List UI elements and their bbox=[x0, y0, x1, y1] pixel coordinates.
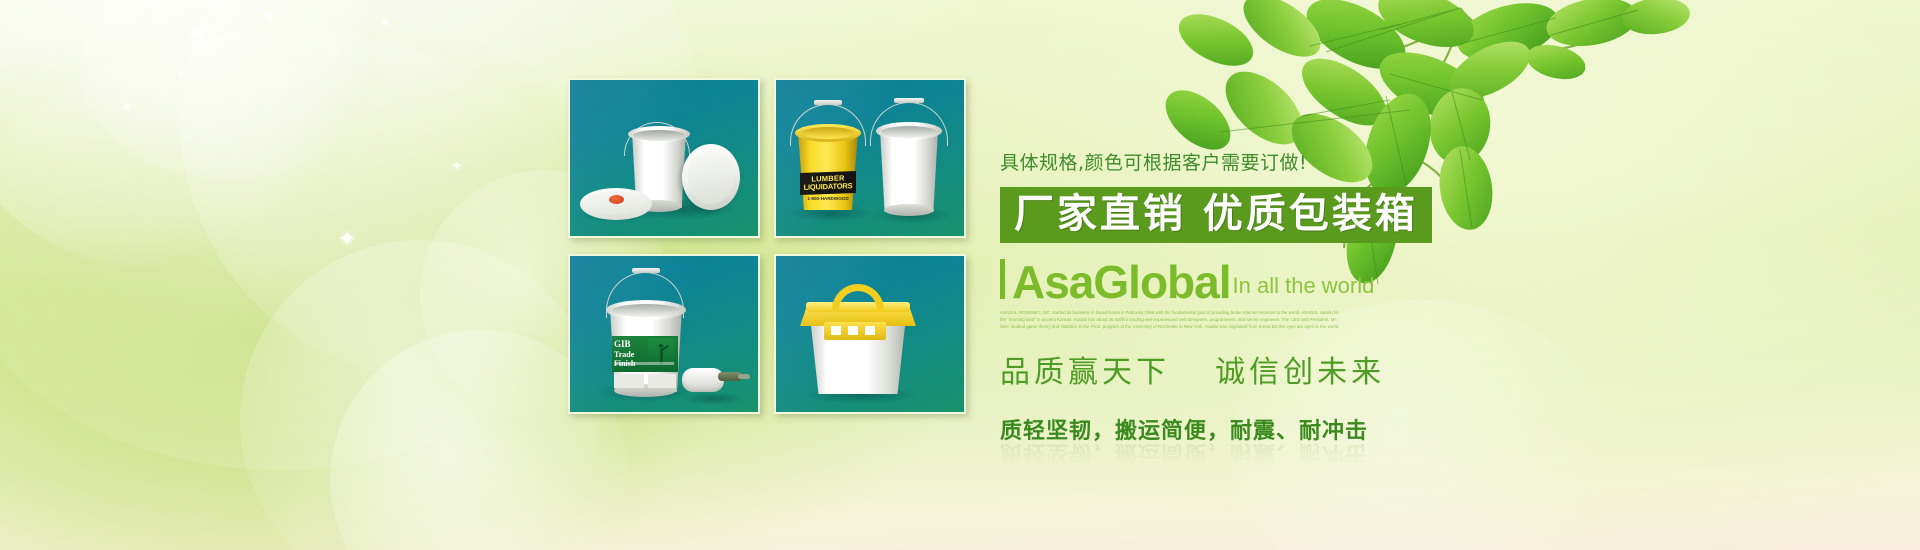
bokeh-circle bbox=[240, 240, 600, 550]
brand-tagline: In all the world bbox=[1233, 273, 1375, 303]
slogan-left: 品质赢天下 bbox=[1000, 355, 1170, 390]
sparkle-icon: ✦ bbox=[452, 160, 462, 172]
sparkle-icon: ✦ bbox=[380, 16, 391, 29]
marketing-copy-block: 具体规格,颜色可根据客户需要订做! 厂家直销 优质包装箱 AsaGlobal I… bbox=[1000, 148, 1700, 459]
sparkle-icon: ✦ bbox=[120, 100, 133, 115]
tile2-label-line2: LIQUIDATORS bbox=[804, 182, 853, 192]
sparkle-icon: ✦ bbox=[186, 22, 208, 48]
brand-accent-bar bbox=[1000, 259, 1005, 299]
slogan-line: 品质赢天下 诚信创未来 bbox=[1000, 347, 1700, 391]
product-tile-yellow-white-pails[interactable]: LUMBER LIQUIDATORS 1-800-HARDWOOD bbox=[774, 78, 966, 238]
bokeh-circle bbox=[0, 30, 600, 470]
company-blurb: ASADAL INTERNET, INC. started its busine… bbox=[1000, 309, 1345, 331]
bokeh-circle bbox=[80, 0, 380, 180]
brand-row: AsaGlobal In all the world bbox=[1000, 259, 1700, 303]
tile2-label-line3: 1-800-HARDWOOD bbox=[802, 196, 854, 201]
feature-line-wrap: 质轻坚韧，搬运简便，耐震、耐冲击 质轻坚韧，搬运简便，耐震、耐冲击 bbox=[1000, 413, 1700, 459]
sparkle-icon: ✦ bbox=[262, 8, 277, 26]
promo-banner: ✦ ✦ ✦ ✦ ✦ ✦ ✦ ✦ bbox=[0, 0, 1920, 550]
tile3-label-line1: GIB bbox=[614, 340, 654, 349]
product-tile-white-pail[interactable] bbox=[568, 78, 760, 238]
product-tile-yellow-lid-toolbox[interactable] bbox=[774, 254, 966, 414]
sparkle-icon: ✦ bbox=[338, 228, 356, 250]
slogan-right: 诚信创未来 bbox=[1215, 355, 1385, 390]
bokeh-circle bbox=[0, 0, 370, 270]
product-tile-gib-trade-finish[interactable]: GIB Trade Finish bbox=[568, 254, 760, 414]
headline-banner: 厂家直销 优质包装箱 bbox=[1000, 187, 1432, 243]
product-image-grid: LUMBER LIQUIDATORS 1-800-HARDWOOD bbox=[568, 78, 966, 414]
sparkle-icon: ✦ bbox=[176, 68, 187, 81]
headline-text: 厂家直销 优质包装箱 bbox=[1014, 193, 1418, 235]
subline-text: 具体规格,颜色可根据客户需要订做! bbox=[1000, 148, 1700, 175]
tile3-label-line2: Trade Finish bbox=[614, 350, 654, 368]
feature-line-reflection: 质轻坚韧，搬运简便，耐震、耐冲击 bbox=[1000, 439, 1368, 471]
brand-name: AsaGlobal bbox=[1012, 261, 1231, 303]
